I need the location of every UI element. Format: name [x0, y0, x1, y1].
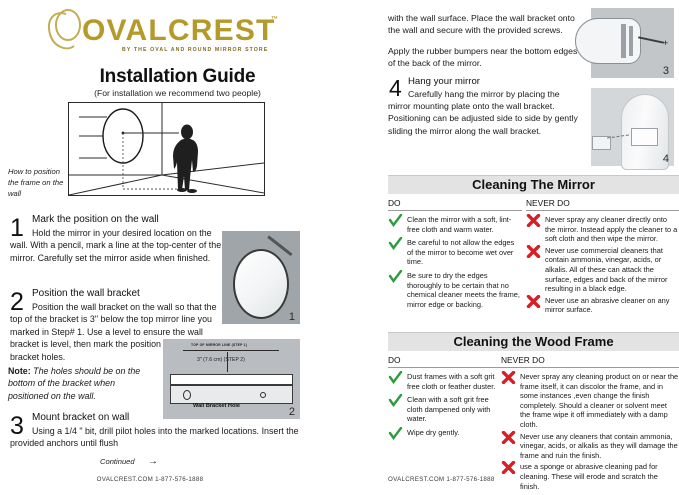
illustration-panel-3: + 3 [591, 8, 674, 78]
cleaning-frame-columns: DO Dust frames with a soft grit free clo… [388, 355, 679, 495]
list-item: Be sure to dry the edges thoroughly to b… [388, 271, 522, 309]
panel-2-hole-right [260, 392, 266, 398]
page-subtitle: (For installation we recommend two peopl… [0, 88, 355, 98]
right-column: with the wall surface. Place the wall br… [388, 0, 679, 489]
cleaning-frame-header: Cleaning the Wood Frame [388, 332, 679, 351]
cross-icon [501, 461, 516, 474]
cleaning-frame-title: Cleaning the Wood Frame [388, 334, 679, 349]
cross-icon [526, 295, 541, 308]
list-item: Never use an abrasive cleaner on any mir… [526, 296, 679, 315]
cleaning-frame-never-column: NEVER DO Never spray any cleaning produc… [501, 355, 679, 493]
cleaning-frame-do-column: DO Dust frames with a soft grit free clo… [388, 355, 504, 442]
list-item: Dust frames with a soft grit free cloth … [388, 372, 504, 391]
panel-2-hole-label: Wall Bracket Hole [193, 403, 240, 409]
panel-2-dimension-label: 3" (7.6 cm) (STEP 2) [197, 357, 245, 363]
list-item: Clean with a soft grit free cloth dampen… [388, 395, 504, 424]
step-3-body: Using a 1/4 " bit, drill pilot holes int… [10, 425, 300, 450]
check-icon [388, 237, 403, 250]
panel-2-top-line [183, 350, 279, 351]
screw-head-icon: + [663, 39, 668, 47]
brand-logo: OVALCREST ™ BY THE OVAL AND ROUND MIRROR… [44, 6, 294, 56]
panel-2-number: 2 [289, 406, 295, 418]
list-item-text: Never use an abrasive cleaner on any mir… [545, 296, 669, 315]
trademark-symbol: ™ [271, 16, 278, 23]
step-4-body: Carefully hang the mirror by placing the… [388, 88, 584, 137]
check-icon [388, 427, 403, 440]
list-item-text: Never spray any cleaner directly onto th… [545, 215, 677, 243]
list-item-text: use a sponge or abrasive cleaning pad fo… [520, 462, 658, 490]
logo-tagline: BY THE OVAL AND ROUND MIRROR STORE [122, 47, 268, 53]
right-paragraph-1: with the wall surface. Place the wall br… [388, 12, 584, 36]
list-item: Wipe dry gently. [388, 428, 504, 438]
section-cleaning-frame: Cleaning the Wood Frame DO Dust frames w… [388, 332, 679, 495]
list-item-text: Wipe dry gently. [407, 428, 459, 437]
list-item-text: Clean the mirror with a soft, lint-free … [407, 215, 511, 234]
drill-cuff-2 [629, 26, 633, 56]
list-item: Never spray any cleaner directly onto th… [526, 215, 679, 244]
list-item-text: Clean with a soft grit free cloth dampen… [407, 395, 490, 423]
list-item-text: Never spray any cleaning product on or n… [520, 372, 678, 429]
panel-4-number: 4 [663, 153, 669, 165]
list-item: Be careful to not allow the edges of the… [388, 238, 522, 267]
list-item: use a sponge or abrasive cleaning pad fo… [501, 462, 679, 491]
cross-icon [501, 431, 516, 444]
step-2-note: Note: The holes should be on the bottom … [8, 365, 156, 402]
footer-left: OVALCREST.COM 1-877-576-1888 [0, 476, 300, 483]
list-item: Never use commercial cleaners that conta… [526, 246, 679, 294]
panel-2-top-label: TOP OF MIRROR LINE (STEP 1) [191, 343, 247, 347]
oval-mirror-shape [233, 249, 289, 319]
list-item-text: Be careful to not allow the edges of the… [407, 238, 514, 266]
list-item: Clean the mirror with a soft, lint-free … [388, 215, 522, 234]
step-3-heading: Mount bracket on wall [32, 412, 129, 423]
step-2-note-label: Note: [8, 366, 31, 376]
page-title: Installation Guide [0, 66, 355, 88]
step-1-body: Hold the mirror in your desired location… [10, 227, 224, 264]
cleaning-mirror-title: Cleaning The Mirror [388, 177, 679, 192]
right-paragraph-2: Apply the rubber bumpers near the bottom… [388, 45, 584, 69]
illustration-panel-2: TOP OF MIRROR LINE (STEP 1) 3" (7.6 cm) … [163, 339, 300, 419]
continued-arrow-icon: → [148, 456, 158, 467]
cleaning-mirror-never-title: NEVER DO [526, 198, 679, 211]
room-diagram-svg [69, 103, 264, 195]
panel-3-number: 3 [663, 65, 669, 77]
drill-cuff-1 [621, 24, 626, 58]
list-item: Never spray any cleaning product on or n… [501, 372, 679, 430]
check-icon [388, 214, 403, 227]
installation-guide-page: OVALCREST ™ BY THE OVAL AND ROUND MIRROR… [0, 0, 679, 489]
panel-1-number: 1 [289, 311, 295, 323]
list-item-text: Never use any cleaners that contain ammo… [520, 432, 678, 460]
panel-2-mirror-bar [170, 374, 293, 385]
cleaning-mirror-do-column: DO Clean the mirror with a soft, lint-fr… [388, 198, 522, 313]
mounting-plate-icon [631, 128, 658, 146]
cleaning-frame-never-title: NEVER DO [501, 355, 679, 368]
cleaning-mirror-header: Cleaning The Mirror [388, 175, 679, 194]
left-column: OVALCREST ™ BY THE OVAL AND ROUND MIRROR… [0, 0, 355, 489]
list-item-text: Be sure to dry the edges thoroughly to b… [407, 271, 520, 309]
cross-icon [526, 245, 541, 258]
step-2-heading: Position the wall bracket [32, 288, 140, 299]
continued-label: Continued [100, 457, 135, 466]
room-position-diagram [68, 102, 265, 196]
list-item-text: Dust frames with a soft grit free cloth … [407, 372, 495, 391]
cleaning-mirror-do-title: DO [388, 198, 522, 211]
list-item-text: Never use commercial cleaners that conta… [545, 246, 667, 293]
step-1-heading: Mark the position on the wall [32, 214, 159, 225]
drill-bit-icon [638, 36, 664, 43]
check-icon [388, 270, 403, 283]
illustration-panel-1: 1 [222, 231, 300, 324]
logo-wordmark: OVALCREST [82, 14, 276, 48]
cleaning-frame-do-title: DO [388, 355, 504, 368]
check-icon [388, 394, 403, 407]
illustration-panel-4: 4 [591, 88, 674, 166]
cleaning-mirror-columns: DO Clean the mirror with a soft, lint-fr… [388, 198, 679, 338]
panel-2-hole-left [183, 390, 191, 400]
check-icon [388, 371, 403, 384]
cleaning-mirror-never-column: NEVER DO Never spray any cleaner directl… [526, 198, 679, 317]
cross-icon [526, 214, 541, 227]
cross-icon [501, 371, 516, 384]
step-4-heading: Hang your mirror [408, 76, 480, 87]
footer-right: OVALCREST.COM 1-877-576-1888 [388, 476, 495, 483]
section-cleaning-mirror: Cleaning The Mirror DO Clean the mirror … [388, 175, 679, 338]
list-item: Never use any cleaners that contain ammo… [501, 432, 679, 461]
room-diagram-caption: How to position the frame on the wall [8, 166, 72, 199]
